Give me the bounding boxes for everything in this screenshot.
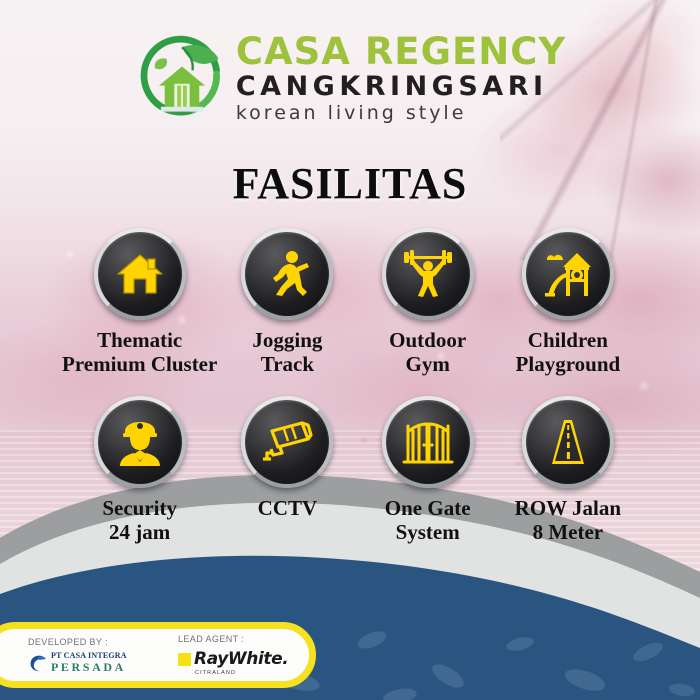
brand-line-3: korean living style	[236, 104, 566, 123]
facility-label: Thematic Premium Cluster	[62, 329, 217, 376]
facility-item[interactable]: Jogging Track	[217, 228, 357, 376]
facility-badge	[94, 396, 186, 488]
brand-line-1: CASA REGENCY	[236, 33, 566, 70]
facility-label: Outdoor Gym	[389, 329, 466, 376]
facility-label: CCTV	[258, 497, 318, 521]
facility-label: Security 24 jam	[102, 497, 177, 544]
facility-label: Children Playground	[516, 329, 621, 376]
facility-item[interactable]: ROW Jalan 8 Meter	[498, 396, 638, 544]
facility-badge	[241, 228, 333, 320]
facility-item[interactable]: CCTV	[217, 396, 357, 544]
developer-name-line1: PT CASA INTEGRA	[51, 652, 127, 660]
lead-agent-caption: LEAD AGENT :	[178, 634, 310, 644]
facility-badge	[94, 228, 186, 320]
page-title: FASILITAS	[0, 158, 700, 209]
brand-line-2: CANGKRINGSARI	[236, 73, 566, 100]
agent-block: LEAD AGENT : RayWhite. CITRALAND	[178, 634, 310, 676]
facility-label: One Gate System	[385, 497, 471, 544]
facility-badge	[522, 228, 614, 320]
house-leaf-circle-logo-icon	[134, 30, 230, 126]
road-icon	[540, 414, 596, 470]
facility-item[interactable]: One Gate System	[358, 396, 498, 544]
security-guard-icon	[112, 414, 168, 470]
agent-name: RayWhite.	[194, 649, 288, 669]
developer-name-line2: PERSADA	[51, 661, 127, 673]
agent-logo: RayWhite. CITRALAND	[178, 649, 310, 676]
footer-content: DEVELOPED BY : PT CASA INTEGRA PERSADA L…	[0, 622, 320, 688]
facilities-poster: CASA REGENCY CANGKRINGSARI korean living…	[0, 0, 700, 700]
developed-by-caption: DEVELOPED BY :	[28, 637, 160, 647]
playground-icon	[539, 245, 597, 303]
brand-logo: CASA REGENCY CANGKRINGSARI korean living…	[0, 30, 700, 126]
house-icon	[112, 246, 168, 302]
developer-block: DEVELOPED BY : PT CASA INTEGRA PERSADA	[28, 637, 160, 673]
facility-item[interactable]: Security 24 jam	[62, 396, 217, 544]
facility-badge	[382, 228, 474, 320]
facilities-grid: Thematic Premium Cluster Jogging Track	[62, 228, 638, 544]
facility-label: ROW Jalan 8 Meter	[515, 497, 621, 544]
facility-item[interactable]: Children Playground	[498, 228, 638, 376]
persada-swoosh-icon	[28, 653, 48, 673]
developer-logo: PT CASA INTEGRA PERSADA	[28, 652, 160, 673]
facility-badge	[522, 396, 614, 488]
facility-item[interactable]: Outdoor Gym	[358, 228, 498, 376]
weightlifter-icon	[400, 246, 456, 302]
agent-sub: CITRALAND	[195, 670, 310, 676]
facility-item[interactable]: Thematic Premium Cluster	[62, 228, 217, 376]
facility-badge	[382, 396, 474, 488]
facility-badge	[241, 396, 333, 488]
raywhite-square-icon	[178, 653, 191, 666]
cctv-icon	[258, 413, 316, 471]
facility-label: Jogging Track	[252, 329, 322, 376]
running-icon	[259, 246, 315, 302]
gate-icon	[400, 414, 456, 470]
